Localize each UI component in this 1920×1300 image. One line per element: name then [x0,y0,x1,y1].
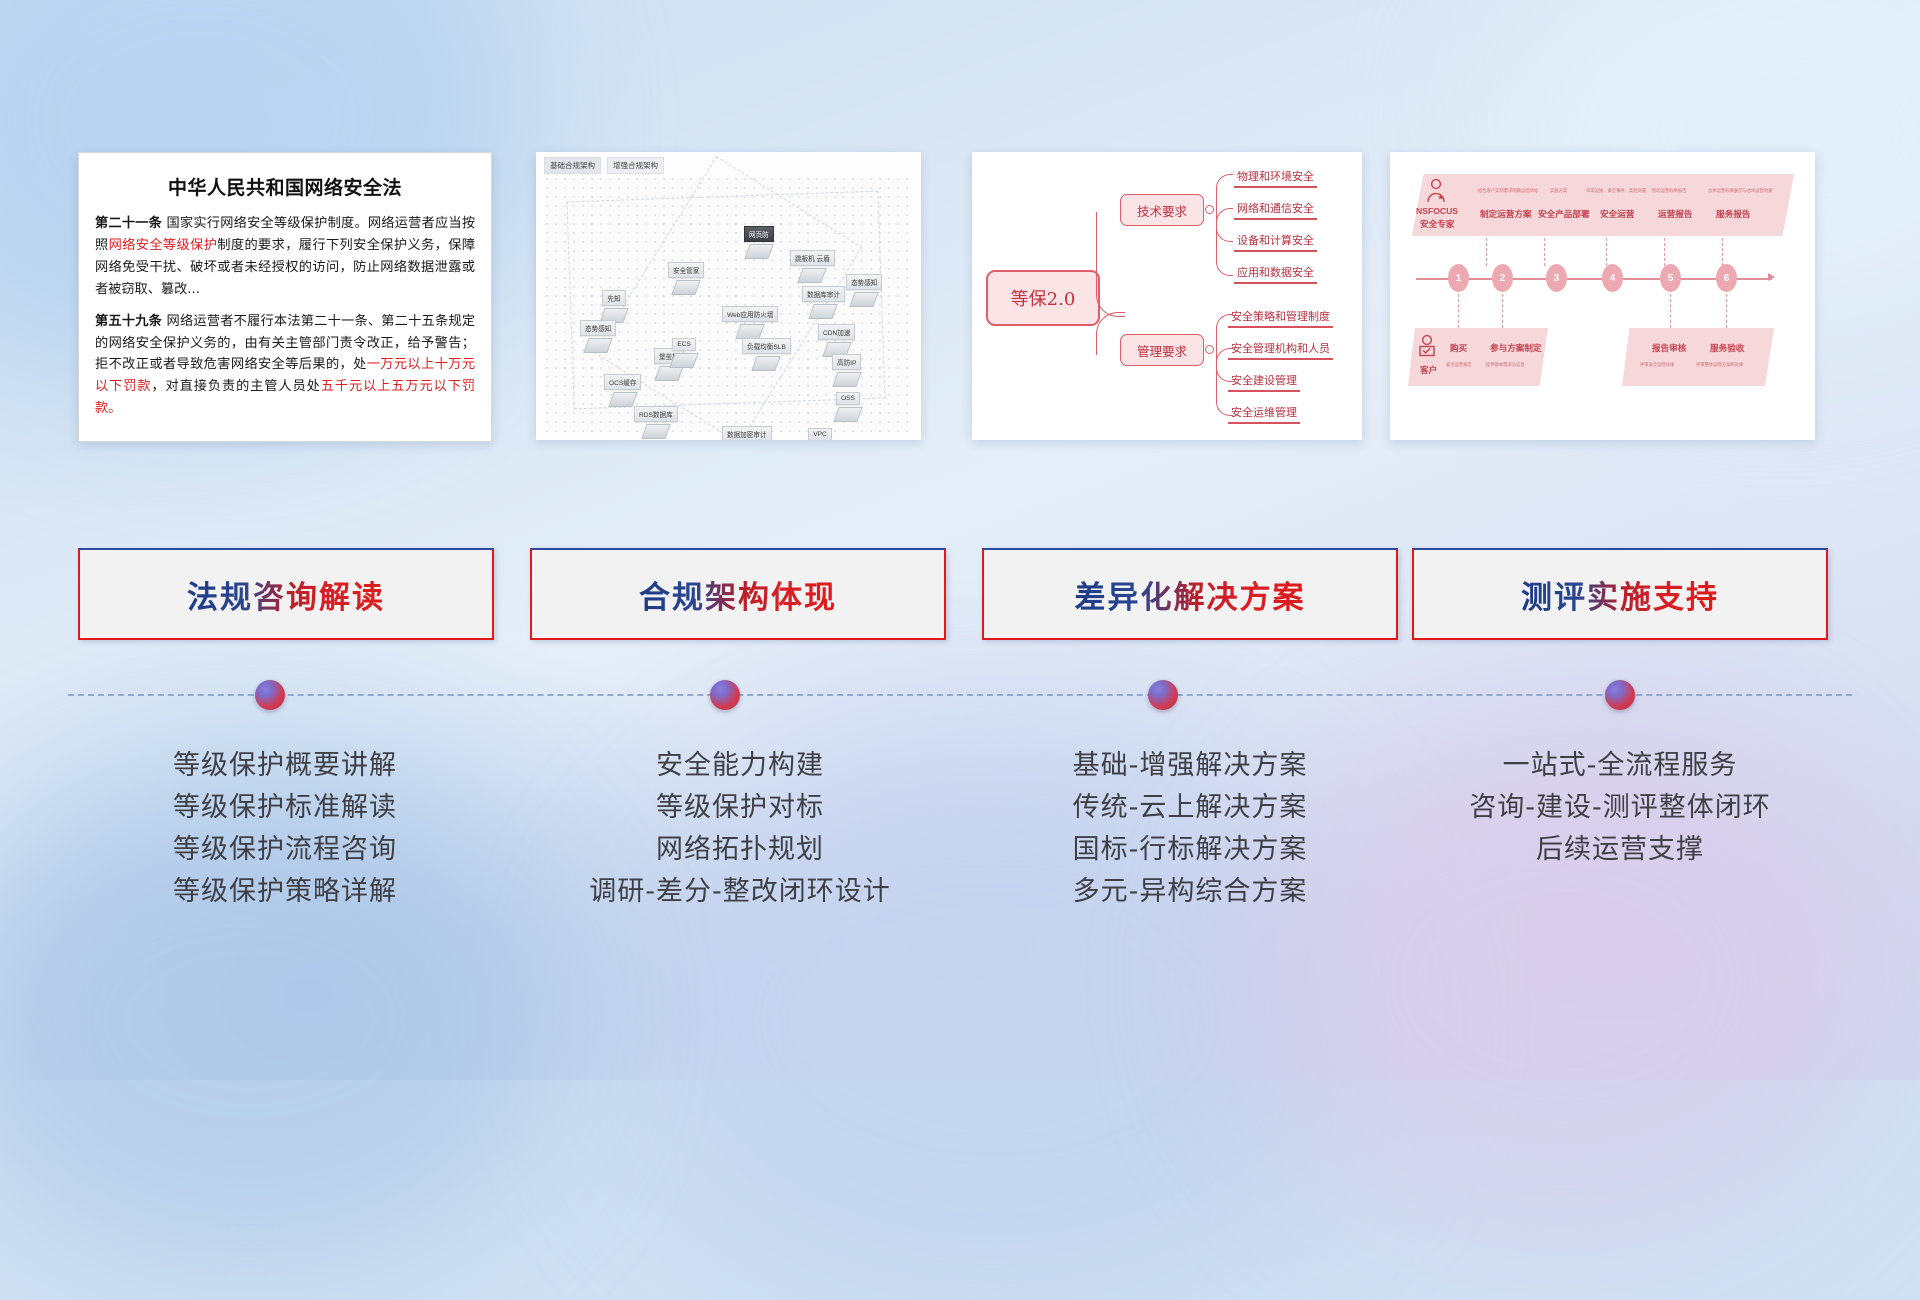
architecture-node-label: VPC [808,428,832,440]
architecture-node[interactable]: 先知 [602,290,626,323]
server-cube-icon [583,338,612,353]
tab-basic-architecture[interactable]: 基础合规架构 [544,157,601,174]
architecture-node[interactable]: 数据加密审计 [722,426,772,440]
law-article-label: 第五十九条 [95,314,162,329]
server-cube-icon [832,372,861,387]
server-cube-icon [752,356,781,371]
list-column-1: 等级保护概要讲解 等级保护标准解读 等级保护流程咨询 等级保护策略详解 [55,745,515,913]
architecture-node-label: 网页防 [744,226,774,242]
mindmap-leaf[interactable]: 物理和环境安全 [1234,168,1317,188]
list-item: 基础-增强解决方案 [960,745,1420,787]
list-item: 等级保护策略详解 [55,871,515,913]
top-step-title: 服务报告 [1716,208,1750,220]
timeline-tick[interactable]: 2 [1492,264,1513,292]
process-timeline-line [68,694,1852,698]
list-item: 咨询-建设-测评整体闭环 [1390,787,1850,829]
timeline-tick[interactable]: 6 [1716,264,1737,292]
card-nsfocus-timeline[interactable]: NSFOCUS 安全专家 结合客户实际需求明确运营目标 制定运营方案 实施方案 … [1390,152,1815,440]
timeline-tick[interactable]: 3 [1546,264,1567,292]
banner-compliance-architecture[interactable]: 合规架构体现 [530,548,946,640]
architecture-node-label: Web应用防火墙 [722,306,778,322]
architecture-node-label: 负载均衡SLB [742,338,791,354]
expert-label-line1: NSFOCUS [1416,206,1458,216]
server-cube-icon [809,304,838,319]
mindmap-leaf[interactable]: 安全建设管理 [1228,372,1300,392]
timeline-bottom-band-right [1622,328,1774,386]
list-item: 后续运营支撑 [1390,829,1850,871]
architecture-node-label: RDS数据库 [634,406,678,422]
timeline-tick[interactable]: 4 [1602,264,1623,292]
customer-label: 客户 [1420,364,1437,376]
bottom-step-sub: 评审安全运营效果 [1640,362,1674,368]
bottom-step-sub: 评审整体运营方案和效果 [1696,362,1743,368]
bottom-step-title: 购买 [1450,342,1467,354]
top-step-title: 制定运营方案 [1480,208,1532,220]
architecture-node[interactable]: 负载均衡SLB [742,338,791,371]
banner-label: 测评实施支持 [1521,572,1719,617]
law-heading: 中华人民共和国网络安全法 [95,173,475,200]
bottom-step-title: 报告审核 [1652,342,1686,354]
architecture-node-label: 数据库审计 [802,286,845,302]
timeline-top-band [1412,174,1794,236]
architecture-node[interactable]: OCS缓存 [604,374,641,407]
law-article-label: 第二十一条 [95,216,162,231]
architecture-node-label: OSS [836,392,860,405]
law-paragraph-2: 第五十九条 网络运营者不履行本法第二十一条、第二十五条规定的网络安全保护义务的，… [95,311,475,421]
mindmap-leaf[interactable]: 应用和数据安全 [1234,264,1317,284]
timeline-node-3[interactable] [1148,680,1178,710]
server-cube-icon [833,407,862,422]
architecture-canvas: 先知态势感知安全管家堡垒机网页防跳板机 云盾数据库审计态势感知Web应用防火墙E… [546,178,911,432]
server-cube-icon [671,280,700,295]
architecture-node[interactable]: 安全管家 [668,262,704,295]
top-step-sub: 总体运营效果展示与总体运营效果 [1708,188,1772,194]
list-item: 一站式-全流程服务 [1390,745,1850,787]
architecture-node-label: ECS [672,338,696,351]
bottom-step-sub: 安全运营报告 [1446,362,1472,368]
list-item: 国标-行标解决方案 [960,829,1420,871]
architecture-node[interactable]: OSS [836,392,860,422]
architecture-node[interactable]: Web应用防火墙 [722,306,778,339]
list-item: 等级保护标准解读 [55,787,515,829]
banner-label: 法规咨询解读 [187,572,385,617]
top-step-title: 运营报告 [1658,208,1692,220]
mindmap-collapse-icon[interactable] [1205,345,1214,354]
mindmap-branch-technical[interactable]: 技术要求 [1120,194,1204,226]
timeline-node-1[interactable] [255,680,285,710]
expert-label-line2: 安全专家 [1420,218,1454,230]
top-step-sub: 阶段运营效果报告 [1652,188,1686,194]
server-cube-icon [849,292,878,307]
banner-label: 合规架构体现 [639,572,837,617]
server-cube-icon [608,392,637,407]
architecture-node[interactable]: ECS [672,338,696,368]
banner-label: 差异化解决方案 [1075,572,1306,617]
timeline-node-4[interactable] [1605,680,1635,710]
law-run-highlight: 网络安全等级保护 [109,238,218,253]
mindmap-branch-management[interactable]: 管理要求 [1120,334,1204,366]
top-step-title: 安全运营 [1600,208,1634,220]
list-column-2: 安全能力构建 等级保护对标 网络拓扑规划 调研-差分-整改闭环设计 [510,745,970,913]
architecture-node-label: OCS缓存 [604,374,641,390]
server-cube-icon [735,324,764,339]
server-cube-icon [744,244,773,259]
card-mindmap[interactable]: 等保2.0 技术要求 管理要求 物理和环境安全 网络和通信安全 设备和计算安全 … [972,152,1362,440]
architecture-node[interactable]: 跳板机 云盾 [790,250,835,283]
mindmap-root-node[interactable]: 等保2.0 [986,270,1100,326]
bottom-step-sub: 提供基本需求与信息 [1486,362,1525,368]
list-item: 多元-异构综合方案 [960,871,1420,913]
architecture-node-label: 数据加密审计 [722,426,772,440]
card-cloud-architecture[interactable]: 基础合规架构 增强合规架构 先知态势感知安全管家堡垒机网页防跳板机 云盾数据库审… [536,152,921,440]
mindmap-leaf[interactable]: 网络和通信安全 [1234,200,1317,220]
bottom-step-title: 服务验收 [1710,342,1744,354]
expert-person-icon [1424,178,1448,209]
architecture-node[interactable]: 网页防 [744,226,774,259]
architecture-tab-bar[interactable]: 基础合规架构 增强合规架构 [544,157,664,174]
architecture-node-label: CDN加速 [818,324,855,340]
law-run: ，对直接负责的主管人员处 [151,379,320,394]
architecture-node-label: 态势感知 [846,274,882,290]
architecture-node[interactable]: 态势感知 [580,320,616,353]
architecture-node[interactable]: 数据库审计 [802,286,845,319]
top-step-sub: 实施方案 [1550,188,1567,194]
slide-canvas: 中华人民共和国网络安全法 第二十一条 国家实行网络安全等级保护制度。网络运营者应… [0,0,1920,1080]
mindmap-leaf[interactable]: 安全运维管理 [1228,404,1300,424]
timeline-node-2[interactable] [710,680,740,710]
server-cube-icon [654,366,683,381]
list-item: 等级保护对标 [510,787,970,829]
image-card-row: 中华人民共和国网络安全法 第二十一条 国家实行网络安全等级保护制度。网络运营者应… [0,0,1920,460]
mindmap-leaf[interactable]: 安全管理机构和人员 [1228,340,1333,360]
top-step-sub: 日常运维、安全事件、高危处置 [1586,188,1646,194]
list-column-3: 基础-增强解决方案 传统-云上解决方案 国标-行标解决方案 多元-异构综合方案 [960,745,1420,913]
banner-differentiated-solution[interactable]: 差异化解决方案 [982,548,1398,640]
list-column-4: 一站式-全流程服务 咨询-建设-测评整体闭环 后续运营支撑 [1390,745,1850,871]
architecture-node-label: 高防IP [832,354,861,370]
mindmap-leaf[interactable]: 设备和计算安全 [1234,232,1317,252]
architecture-node[interactable]: 高防IP [832,354,861,387]
architecture-node-label: 态势感知 [580,320,616,336]
list-item: 等级保护概要讲解 [55,745,515,787]
architecture-node[interactable]: VPC [808,428,832,440]
mindmap-collapse-icon[interactable] [1205,205,1214,214]
list-item: 等级保护流程咨询 [55,829,515,871]
mindmap-leaf[interactable]: 安全策略和管理制度 [1228,308,1333,328]
server-cube-icon [641,424,670,439]
architecture-node-label: 先知 [602,290,626,306]
server-cube-icon [669,353,698,368]
timeline-tick[interactable]: 5 [1660,264,1681,292]
list-item: 调研-差分-整改闭环设计 [510,871,970,913]
architecture-node-label: 安全管家 [668,262,704,278]
card-law-document[interactable]: 中华人民共和国网络安全法 第二十一条 国家实行网络安全等级保护制度。网络运营者应… [78,152,492,442]
list-item: 安全能力构建 [510,745,970,787]
tab-enhanced-architecture[interactable]: 增强合规架构 [607,157,664,174]
bottom-step-title: 参与方案制定 [1490,342,1542,354]
timeline-tick[interactable]: 1 [1448,264,1469,292]
architecture-node[interactable]: RDS数据库 [634,406,678,439]
top-step-sub: 结合客户实际需求明确运营目标 [1478,188,1538,194]
banner-assessment-support[interactable]: 测评实施支持 [1412,548,1828,640]
architecture-node[interactable]: 态势感知 [846,274,882,307]
list-item: 传统-云上解决方案 [960,787,1420,829]
law-paragraph-1: 第二十一条 国家实行网络安全等级保护制度。网络运营者应当按照网络安全等级保护制度… [95,213,475,301]
architecture-node[interactable]: CDN加速 [818,324,855,357]
timeline-arrow-icon [1768,273,1775,281]
top-step-title: 安全产品部署 [1538,208,1590,220]
server-cube-icon [798,268,827,283]
architecture-node-label: 跳板机 云盾 [790,250,835,266]
list-item: 网络拓扑规划 [510,829,970,871]
customer-person-icon [1416,334,1438,363]
banner-regulation-consulting[interactable]: 法规咨询解读 [78,548,494,640]
